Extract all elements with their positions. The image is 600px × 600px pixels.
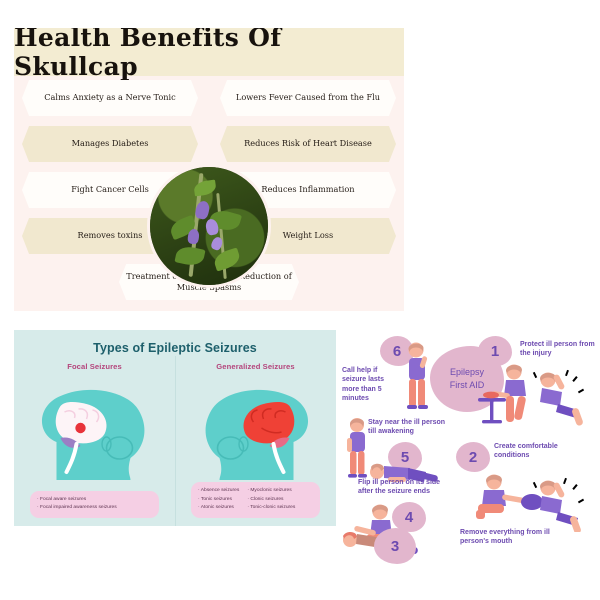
list-item: Clonic seizures [247,496,295,505]
focal-seizures-list: Focal aware seizures Focal impaired awar… [30,491,159,518]
benefit-label: Lowers Fever Caused from the Flu [236,92,380,103]
benefit-label: Weight Loss [283,230,333,241]
benefit-label: Manages Diabetes [72,138,149,149]
benefits-header: Health Benefits Of Skullcap [14,28,404,76]
list-item: Absence seizures [198,487,239,496]
focal-seizures-column: Focal Seizures Focal aware seizures Foca… [14,360,175,526]
step-3-number: 3 [374,528,416,564]
step-4-text: Flip ill person on its side after the se… [358,478,446,497]
list-item: Atonic seizures [198,504,239,513]
benefit-item: Calms Anxiety as a Nerve Tonic [22,80,198,116]
list-item: Tonic seizures [198,496,239,505]
step-2-figure-pillow [470,470,594,532]
benefit-label: Reduces Inflammation [261,184,354,195]
page-title: Health Benefits Of Skullcap [14,28,404,81]
step-2-text: Create comfortable conditions [494,442,576,461]
generalized-list-column-b: Myoclonic seizures Clonic seizures Tonic… [247,487,295,513]
focal-brain-illustration [14,376,175,484]
step-3-text: Remove everything from ill person's mout… [460,528,556,547]
generalized-seizures-list: Absence seizures Tonic seizures Atonic s… [191,482,320,518]
benefits-body: Calms Anxiety as a Nerve Tonic Lowers Fe… [14,76,404,311]
step-1-figure-protecting [470,362,598,428]
benefit-label: Reduces Risk of Heart Disease [244,138,372,149]
step-6-figure-calling [400,340,434,416]
benefit-label: Fight Cancer Cells [71,184,149,195]
step-6-text: Call help if seizure lasts more than 5 m… [342,366,398,404]
benefit-item: Lowers Fever Caused from the Flu [220,80,396,116]
benefit-item: Manages Diabetes [22,126,198,162]
generalized-seizures-column: Generalized Seizures Absence seizures To… [175,360,336,526]
list-item: Myoclonic seizures [247,487,295,496]
step-1-text: Protect ill person from the injury [520,340,596,359]
health-benefits-panel: Health Benefits Of Skullcap Calms Anxiet… [14,28,404,311]
list-item: Focal aware seizures [37,496,152,505]
list-item: Tonic-clonic seizures [247,504,295,513]
generalized-list-column-a: Absence seizures Tonic seizures Atonic s… [198,487,239,513]
seizure-types-panel: Types of Epileptic Seizures Focal Seizur… [14,330,336,526]
epilepsy-first-aid-panel: Epilepsy First AID 6 Call help if seizur… [338,330,600,582]
benefit-item: Reduces Risk of Heart Disease [220,126,396,162]
step-2-number: 2 [456,442,490,472]
seizure-panel-title: Types of Epileptic Seizures [14,330,336,355]
step-5-text: Stay near the ill person till awakening [368,418,452,437]
list-item: Focal impaired awareness seizures [37,504,152,513]
skullcap-plant-photo [147,164,271,288]
benefit-label: Removes toxins [78,230,143,241]
generalized-brain-illustration [175,376,336,484]
benefit-label: Calms Anxiety as a Nerve Tonic [44,92,176,103]
generalized-seizures-subtitle: Generalized Seizures [175,362,336,371]
focal-seizures-subtitle: Focal Seizures [14,362,175,371]
